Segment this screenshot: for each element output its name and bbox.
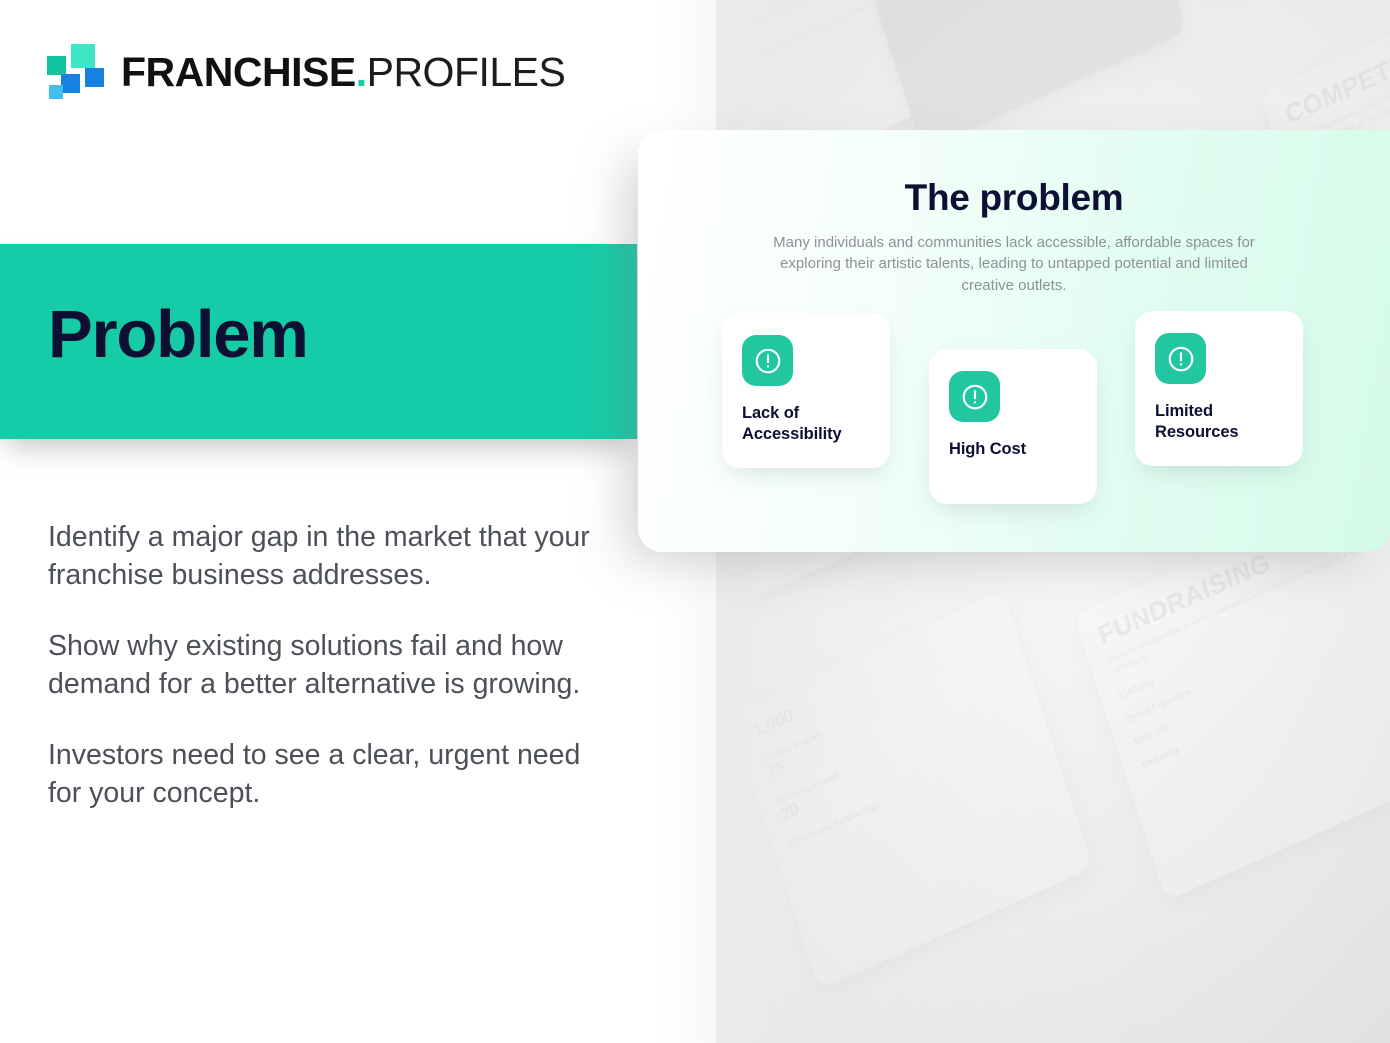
preview-tiles: Lack of Accessibility High Cost: [638, 130, 1390, 552]
brand-name-bold: FRANCHISE: [121, 49, 356, 95]
body-paragraph-2: Show why existing solutions fail and how…: [48, 628, 618, 703]
preview-card[interactable]: The problem Many individuals and communi…: [638, 130, 1390, 552]
brand-name-light: PROFILES: [367, 49, 566, 95]
page-title: Problem: [48, 296, 308, 373]
brand-name-dot: .: [356, 49, 367, 95]
background-slide-metrics: 1,000 Monthly Visitors 75 Workshops Held…: [729, 591, 1093, 990]
preview-tile-high-cost[interactable]: High Cost: [929, 349, 1097, 504]
body-copy: Identify a major gap in the market that …: [48, 519, 618, 813]
slide-canvas: THE PROBLEM Many individuals and communi…: [0, 0, 1390, 1043]
body-paragraph-3: Investors need to see a clear, urgent ne…: [48, 737, 618, 812]
exclamation-circle-icon: [1155, 333, 1206, 384]
preview-tile-label: Limited Resources: [1155, 401, 1283, 444]
preview-tile-label: High Cost: [949, 439, 1077, 460]
preview-tile-limited-resources[interactable]: Limited Resources: [1135, 311, 1303, 466]
section-banner: Problem: [0, 244, 637, 439]
exclamation-circle-icon: [949, 371, 1000, 422]
body-paragraph-1: Identify a major gap in the market that …: [48, 519, 618, 594]
squares-logo-icon: [47, 44, 103, 100]
background-label: Commissioned Art Sales: [715, 16, 884, 137]
exclamation-circle-icon: [742, 335, 793, 386]
preview-tile-label: Lack of Accessibility: [742, 403, 870, 446]
preview-tile-lack-of-accessibility[interactable]: Lack of Accessibility: [722, 313, 890, 468]
brand-wordmark: FRANCHISE.PROFILES: [121, 49, 565, 96]
brand-logo[interactable]: FRANCHISE.PROFILES: [47, 44, 565, 100]
left-content-column: FRANCHISE.PROFILES Problem Identify a ma…: [0, 0, 716, 1043]
